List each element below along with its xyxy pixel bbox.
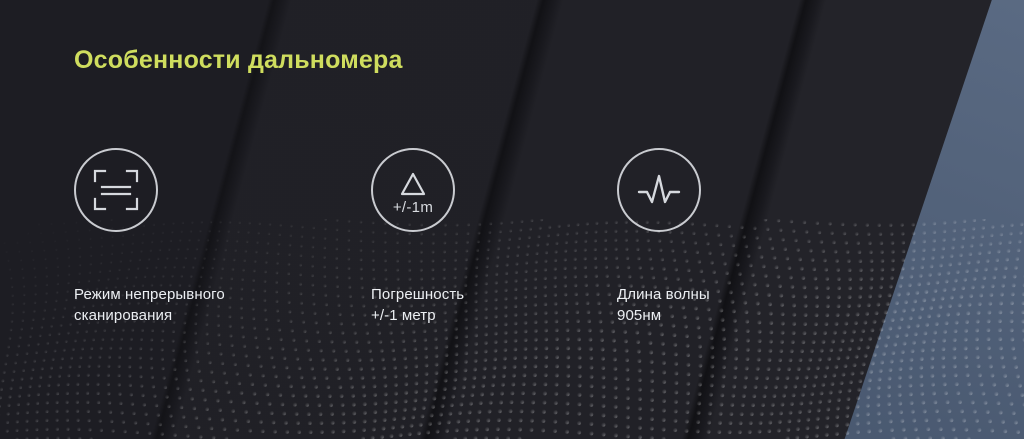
- feature-label: Погрешность +/-1 метр: [371, 284, 617, 327]
- feature-item-wavelength: Длина волны 905нм: [617, 148, 863, 327]
- feature-item-accuracy: +/-1m Погрешность +/-1 метр: [371, 148, 617, 327]
- feature-label: Режим непрерывного сканирования: [74, 284, 320, 327]
- rangefinder-features-banner: Особенности дальномера Режим непрерывног…: [0, 0, 1024, 439]
- feature-item-continuous-scan: Режим непрерывного сканирования: [74, 148, 320, 327]
- feature-list: Режим непрерывного сканирования +/-1m По…: [74, 148, 874, 327]
- waveform-pulse-icon: [617, 148, 701, 232]
- pulse-waveform-glyph: [631, 162, 687, 218]
- accuracy-delta-icon: +/-1m: [371, 148, 455, 232]
- continuous-scan-icon: [74, 148, 158, 232]
- banner-content: Особенности дальномера Режим непрерывног…: [0, 0, 1024, 439]
- feature-label: Длина волны 905нм: [617, 284, 863, 327]
- continuous-scan-glyph: [90, 164, 142, 216]
- page-title: Особенности дальномера: [74, 46, 403, 75]
- accuracy-value-label: +/-1m: [373, 199, 453, 216]
